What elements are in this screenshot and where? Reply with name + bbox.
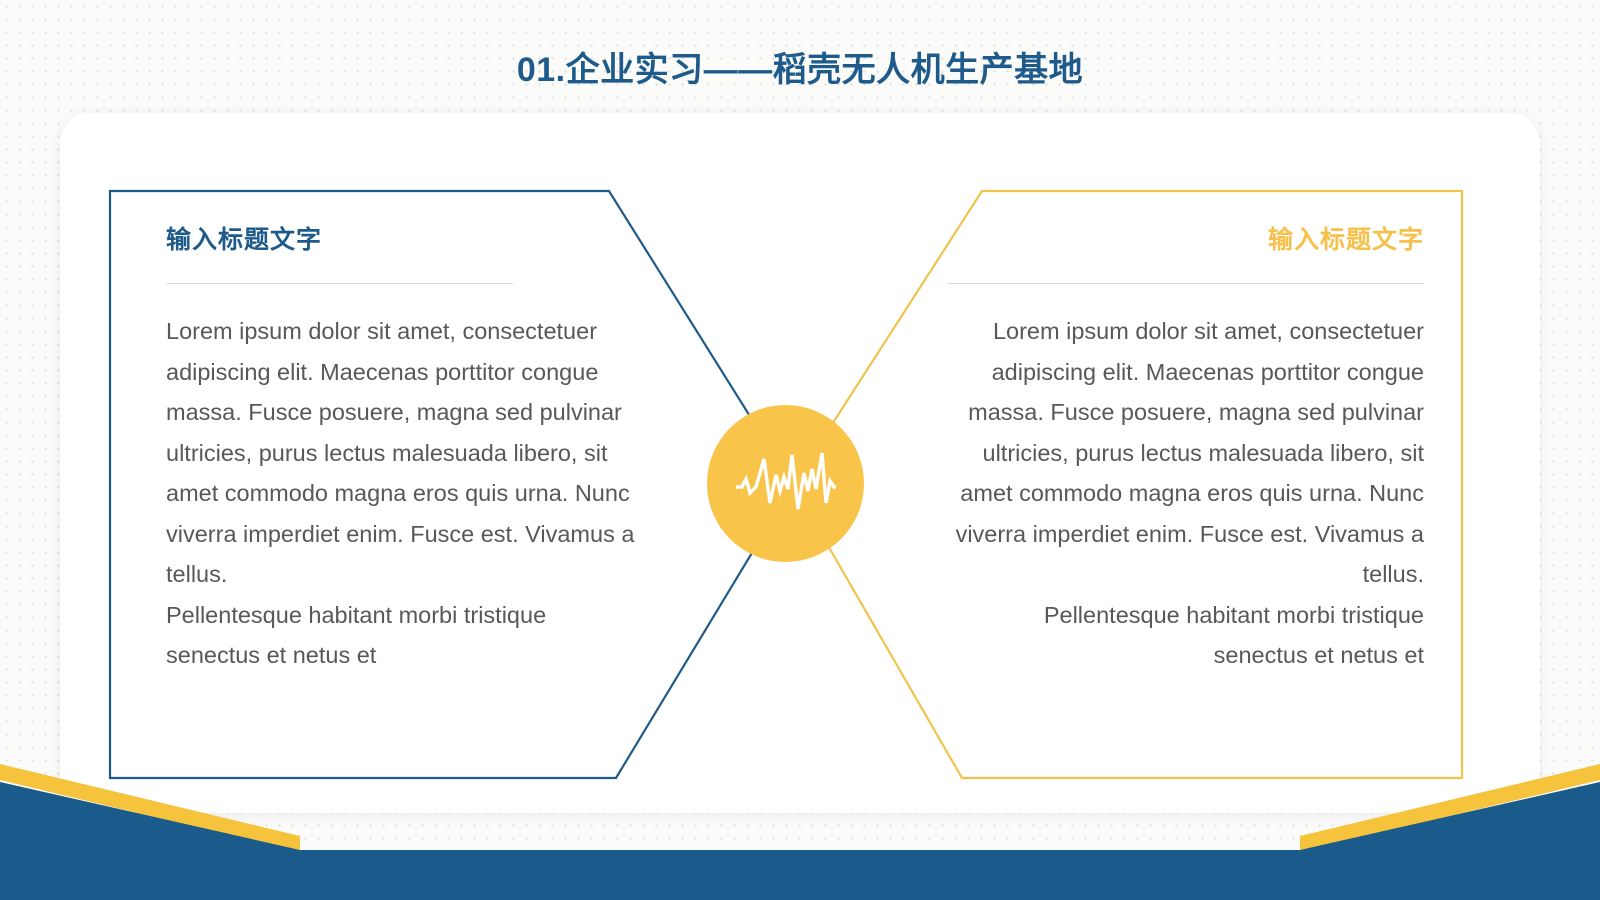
- panel-left-heading: 输入标题文字: [166, 225, 606, 255]
- page-title: 01.企业实习——稻壳无人机生产基地: [0, 42, 1600, 91]
- waveform-icon: [734, 447, 838, 521]
- center-badge: [707, 405, 864, 562]
- panel-right-divider: [948, 283, 1424, 284]
- panel-right: 输入标题文字 Lorem ipsum dolor sit amet, conse…: [948, 225, 1424, 676]
- panel-left-divider: [166, 283, 513, 284]
- panel-left-body: Lorem ipsum dolor sit amet, consectetuer…: [166, 311, 638, 676]
- slide-canvas: 01.企业实习——稻壳无人机生产基地 输入标题文字 Lorem ipsum do…: [0, 0, 1600, 900]
- panel-right-body: Lorem ipsum dolor sit amet, consectetuer…: [948, 311, 1424, 676]
- panel-right-heading: 输入标题文字: [948, 225, 1424, 255]
- panel-left: 输入标题文字 Lorem ipsum dolor sit amet, conse…: [166, 225, 606, 676]
